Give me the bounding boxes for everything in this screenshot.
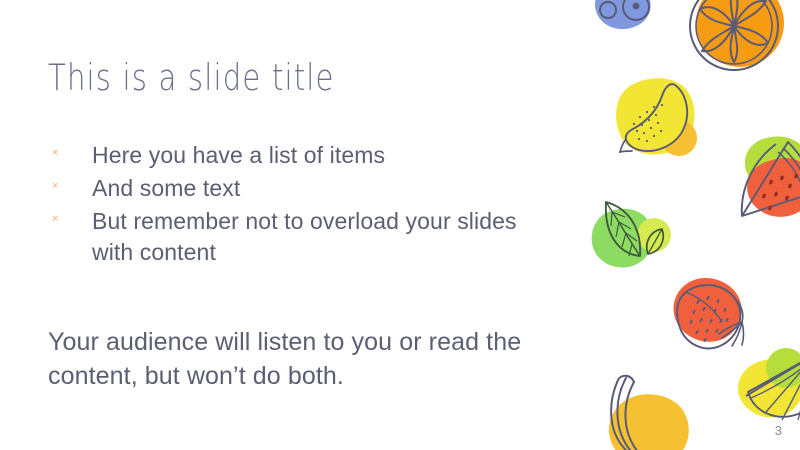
strawberry-icon [664, 268, 764, 364]
page-number: 3 [775, 423, 782, 438]
slide-text-column: This is a slide title × Here you have a … [0, 0, 560, 450]
watermelon-wedge-icon [726, 120, 800, 225]
bullet-marker-icon: × [52, 214, 59, 225]
list-item-label: And some text [92, 173, 528, 204]
blueberries-icon [586, 0, 666, 45]
bullet-list: × Here you have a list of items × And so… [48, 140, 528, 270]
bullet-marker-icon: × [52, 148, 59, 159]
orange-slice-icon [678, 0, 798, 88]
banana-bunch-icon [592, 372, 712, 450]
page-title: This is a slide title [48, 57, 335, 100]
list-item-label: But remember not to overload your slides… [92, 206, 528, 268]
closing-paragraph: Your audience will listen to you or read… [48, 325, 548, 393]
leaves-icon [584, 192, 680, 278]
lemon-wedge-icon [724, 340, 800, 440]
lemon-icon [604, 72, 714, 172]
slide-canvas: This is a slide title × Here you have a … [0, 0, 800, 450]
list-item: × Here you have a list of items [48, 140, 528, 171]
list-item: × And some text [48, 173, 528, 204]
list-item: × But remember not to overload your slid… [48, 206, 528, 268]
bullet-marker-icon: × [52, 181, 59, 192]
list-item-label: Here you have a list of items [92, 140, 528, 171]
